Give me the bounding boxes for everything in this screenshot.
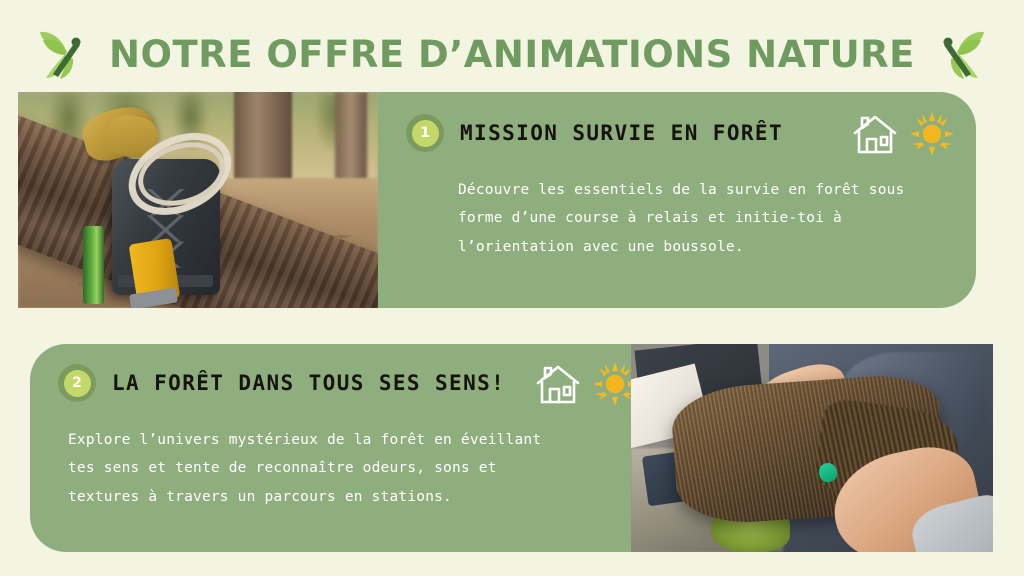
card-1-number-badge: 1	[406, 114, 444, 152]
card-2-icons	[535, 362, 637, 406]
dragonfly-icon-right	[933, 28, 989, 80]
card-2-body-text: Explore l’univers mystérieux de la forêt…	[68, 426, 568, 511]
card-1-icons	[852, 112, 954, 156]
photo-hands-fur	[631, 344, 993, 552]
card-1-body: Découvre les essentiels de la survie en …	[458, 176, 928, 261]
card-1-body-text: Découvre les essentiels de la survie en …	[458, 176, 928, 261]
card-2-number-badge: 2	[58, 364, 96, 402]
page-title: NOTRE OFFRE D’ANIMATIONS NATURE	[109, 36, 915, 73]
card-1-header: 1 MISSION SURVIE EN FORÊT	[406, 114, 783, 152]
dragonfly-icon-left	[35, 28, 91, 80]
card-2-number: 2	[64, 370, 91, 397]
card-1-number: 1	[412, 120, 439, 147]
house-icon	[535, 363, 581, 405]
card-2-header: 2 LA FORÊT DANS TOUS SES SENS!	[58, 364, 505, 402]
sun-icon	[910, 112, 954, 156]
offer-card-1: 1 MISSION SURVIE EN FORÊT	[378, 92, 976, 308]
water-bottle	[83, 226, 105, 304]
photo-backpack-forest	[18, 92, 378, 308]
offer-card-2: 2 LA FORÊT DANS TOUS SES SENS!	[30, 344, 650, 552]
house-icon	[852, 113, 898, 155]
card-1-title: MISSION SURVIE EN FORÊT	[460, 123, 783, 144]
fur-scene	[631, 344, 993, 552]
slide-root: NOTRE OFFRE D’ANIMATIONS NATURE	[0, 0, 1024, 576]
card-2-title: LA FORÊT DANS TOUS SES SENS!	[112, 373, 505, 394]
title-row: NOTRE OFFRE D’ANIMATIONS NATURE	[0, 22, 1024, 86]
card-2-body: Explore l’univers mystérieux de la forêt…	[68, 426, 568, 511]
forest-scene	[18, 92, 378, 308]
tree-trunk-secondary	[335, 92, 367, 191]
